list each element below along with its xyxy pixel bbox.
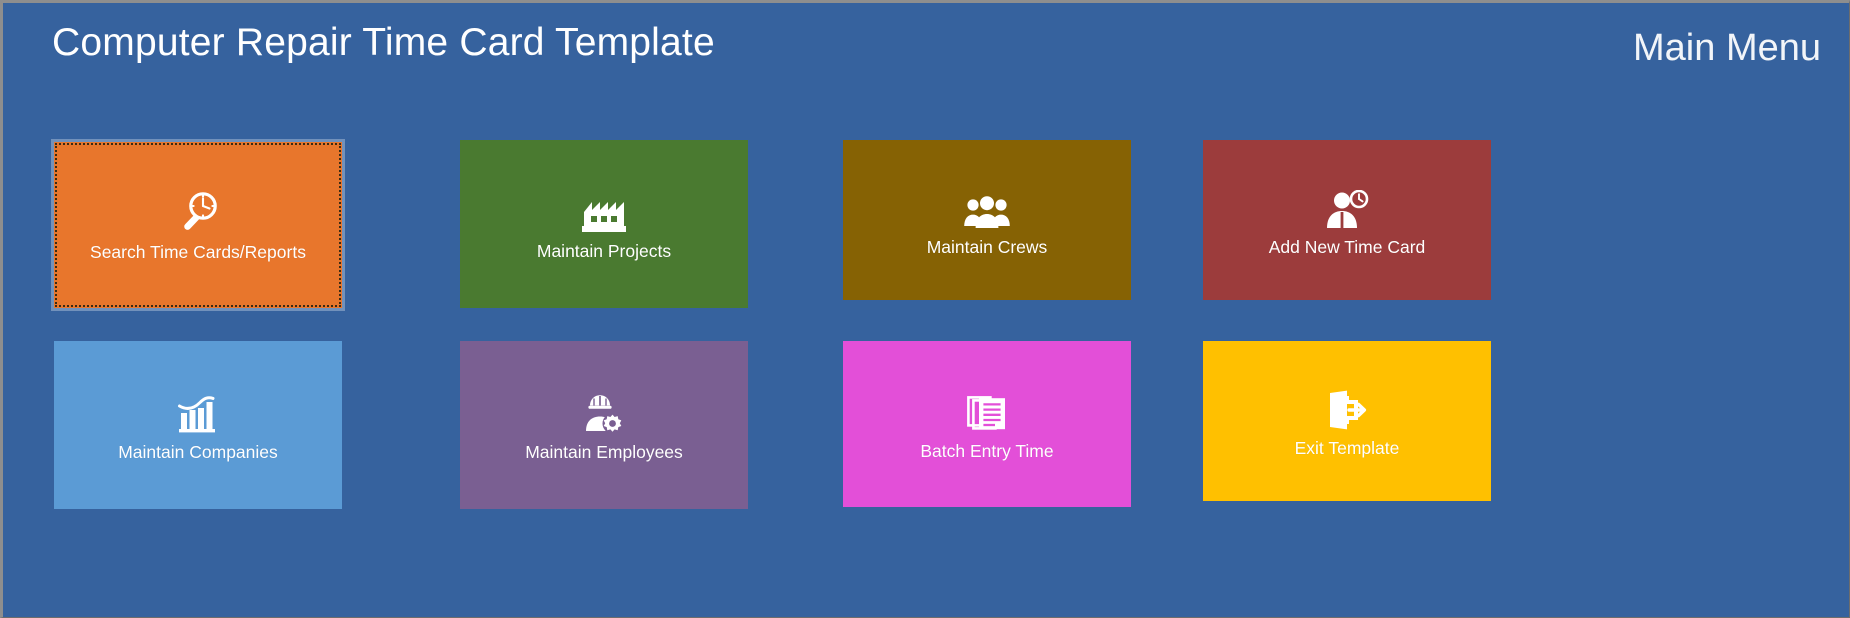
tile-maintain-projects[interactable]: Maintain Projects (460, 140, 748, 308)
worker-gear-icon (578, 387, 630, 435)
tile-exit-template[interactable]: Exit Template (1203, 341, 1491, 501)
exit-door-icon (1321, 383, 1373, 431)
tile-label: Maintain Projects (537, 241, 671, 261)
tile-maintain-crews[interactable]: Maintain Crews (843, 140, 1131, 300)
tile-label: Maintain Employees (525, 442, 683, 462)
tile-label: Batch Entry Time (920, 441, 1053, 461)
factory-icon (578, 186, 630, 234)
documents-stack-icon (961, 386, 1013, 434)
tile-add-new-time-card[interactable]: Add New Time Card (1203, 140, 1491, 300)
tile-grid: Search Time Cards/Reports Maintain Proje… (3, 3, 1849, 617)
tile-label: Maintain Crews (927, 237, 1048, 257)
tile-label: Search Time Cards/Reports (90, 242, 306, 262)
magnifier-clock-icon (172, 187, 224, 235)
tile-batch-entry-time[interactable]: Batch Entry Time (843, 341, 1131, 507)
people-group-icon (961, 182, 1013, 230)
tile-maintain-companies[interactable]: Maintain Companies (54, 341, 342, 509)
tile-maintain-employees[interactable]: Maintain Employees (460, 341, 748, 509)
application-window: Computer Repair Time Card Template Main … (0, 0, 1850, 618)
tile-label: Maintain Companies (118, 442, 278, 462)
tile-label: Add New Time Card (1269, 237, 1426, 257)
tile-label: Exit Template (1295, 438, 1400, 458)
tile-search-time-cards-reports[interactable]: Search Time Cards/Reports (54, 142, 342, 308)
bar-chart-trend-icon (172, 387, 224, 435)
person-clock-icon (1321, 182, 1373, 230)
